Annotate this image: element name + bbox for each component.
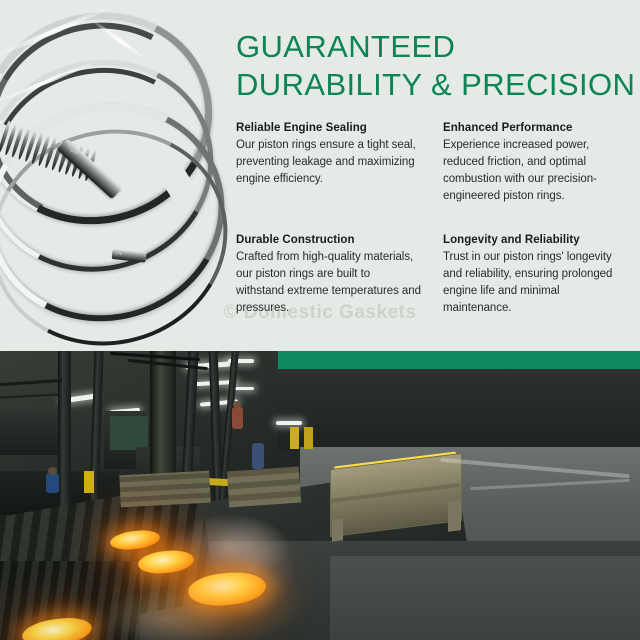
structural-column — [150, 351, 176, 491]
feature-body: Experience increased power, reduced fric… — [443, 137, 628, 205]
feature-row-2: Durable Construction Crafted from high-q… — [236, 233, 628, 317]
bin-leg — [332, 518, 343, 541]
upper-panel: TOP 1N STD GUARANTEED DURABILITY & PRECI… — [0, 0, 640, 351]
worker-head — [233, 401, 241, 408]
wooden-crate — [119, 471, 211, 508]
feature-title: Durable Construction — [236, 233, 421, 248]
worker-head — [48, 467, 57, 475]
factory-photo: 15 — [0, 351, 640, 640]
page-title: GUARANTEED DURABILITY & PRECISION — [236, 28, 636, 104]
feature-body: Crafted from high-quality materials, our… — [236, 249, 421, 317]
feature-longevity-and-reliability: Longevity and Reliability Trust in our p… — [443, 233, 628, 317]
bin-leg — [448, 500, 461, 532]
heat-glow — [96, 551, 306, 640]
background-machinery-green — [110, 416, 148, 450]
feature-enhanced-performance: Enhanced Performance Experience increase… — [443, 121, 628, 205]
poster-root: TOP 1N STD GUARANTEED DURABILITY & PRECI… — [0, 0, 640, 640]
yellow-post — [84, 471, 94, 493]
worker-figure — [46, 473, 59, 493]
structural-column — [58, 351, 71, 511]
ceiling-lamp — [276, 421, 302, 425]
photo-dark-slab-band — [278, 369, 640, 451]
feature-row-1: Reliable Engine Sealing Our piston rings… — [236, 121, 628, 205]
feature-reliable-engine-sealing: Reliable Engine Sealing Our piston rings… — [236, 121, 421, 205]
green-accent-bar — [278, 351, 640, 369]
worker-figure — [252, 443, 264, 469]
headline-line-1: GUARANTEED — [236, 28, 636, 66]
feature-title: Reliable Engine Sealing — [236, 121, 421, 136]
feature-grid: Reliable Engine Sealing Our piston rings… — [236, 121, 628, 317]
piston-ring-group: TOP 1N STD — [0, 0, 270, 339]
feature-durable-construction: Durable Construction Crafted from high-q… — [236, 233, 421, 317]
piston-ring-product-image: TOP 1N STD — [0, 8, 234, 308]
feature-body: Our piston rings ensure a tight seal, pr… — [236, 137, 421, 188]
headline-line-2: DURABILITY & PRECISION — [236, 66, 636, 104]
wooden-crate — [227, 467, 301, 508]
yellow-post — [290, 427, 299, 449]
yellow-post — [304, 427, 313, 449]
feature-title: Longevity and Reliability — [443, 233, 628, 248]
ring-label-text-bottom: 1N — [115, 250, 122, 257]
worker-figure — [232, 407, 243, 429]
feature-body: Trust in our piston rings' longevity and… — [443, 249, 628, 317]
feature-title: Enhanced Performance — [443, 121, 628, 136]
photo-floor-dark-right — [330, 556, 640, 640]
